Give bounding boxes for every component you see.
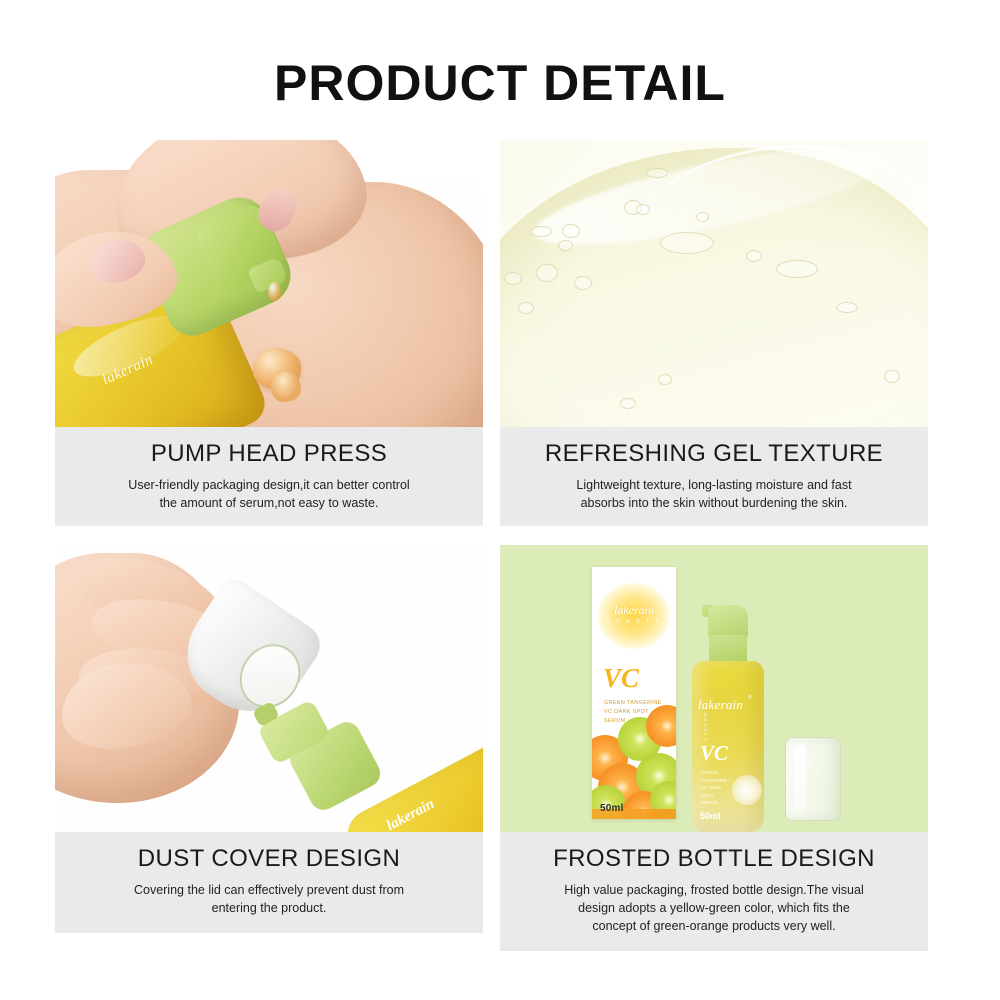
cap-highlight-icon — [794, 744, 806, 812]
gel-bubble-icon — [884, 370, 900, 383]
gel-bubble-icon — [836, 302, 858, 313]
photo-pump-head-press: lakerain — [55, 140, 483, 427]
serum-blob-secondary-icon — [271, 372, 301, 402]
gel-bubble-icon — [574, 276, 592, 290]
gel-bubble-icon — [660, 232, 714, 254]
box-vc-label: VC — [603, 663, 639, 694]
feature-panel-grid: lakerain PUMP HEAD PRESS User-friendly p… — [55, 140, 928, 945]
page-title: PRODUCT DETAIL — [0, 54, 1000, 112]
feature-panel-dust-cover-design: lakerain DUST COVER DESIGN Covering the … — [55, 545, 483, 933]
caption-frosted-bottle-design: FROSTED BOTTLE DESIGN High value packagi… — [500, 832, 928, 951]
frosted-dust-cover-icon — [785, 737, 841, 821]
box-volume-label: 50ml — [600, 803, 624, 814]
photo-frosted-bottle-design: lakerain B E A U T Y VC GREEN TANGERINE … — [500, 545, 928, 832]
photo-dust-cover-design: lakerain — [55, 545, 483, 832]
feature-panel-refreshing-gel-texture: REFRESHING GEL TEXTURE Lightweight textu… — [500, 140, 928, 526]
pump-head-icon — [708, 605, 748, 639]
caption-description: User-friendly packaging design,it can be… — [55, 476, 483, 512]
serum-drop-icon — [268, 282, 281, 301]
box-brand-label: lakerain — [592, 603, 676, 618]
bottle-brand-label: lakerain — [698, 697, 743, 713]
caption-refreshing-gel-texture: REFRESHING GEL TEXTURE Lightweight textu… — [500, 427, 928, 526]
gel-bubble-icon — [562, 224, 580, 238]
caption-description: High value packaging, frosted bottle des… — [500, 881, 928, 935]
gel-bubble-icon — [658, 374, 672, 385]
caption-title: REFRESHING GEL TEXTURE — [500, 439, 928, 469]
caption-description: Lightweight texture, long-lasting moistu… — [500, 476, 928, 512]
gel-bubble-icon — [746, 250, 762, 262]
caption-title: FROSTED BOTTLE DESIGN — [500, 844, 928, 874]
box-brand-sub-label: B E A U T Y — [592, 619, 676, 625]
gel-bubble-icon — [504, 272, 522, 285]
caption-pump-head-press: PUMP HEAD PRESS User-friendly packaging … — [55, 427, 483, 526]
gel-bubble-icon — [620, 398, 636, 409]
gel-bubble-icon — [530, 226, 552, 237]
gel-bubble-icon — [518, 302, 534, 314]
product-box-icon: lakerain B E A U T Y VC GREEN TANGERINE … — [592, 567, 676, 819]
bottle-brand-sub-label: B E A U T Y — [704, 712, 710, 742]
feature-panel-frosted-bottle-design: lakerain B E A U T Y VC GREEN TANGERINE … — [500, 545, 928, 951]
gel-bubble-icon — [776, 260, 818, 278]
lime-slice-icon — [732, 775, 762, 805]
bottle-product-name-label: GREEN TANGERINE VC DARK SPOT SERUM — [701, 769, 727, 807]
gel-bubble-icon — [696, 212, 709, 222]
caption-title: DUST COVER DESIGN — [55, 844, 483, 874]
registered-mark-icon: ® — [748, 695, 752, 701]
caption-dust-cover-design: DUST COVER DESIGN Covering the lid can e… — [55, 832, 483, 933]
caption-description: Covering the lid can effectively prevent… — [55, 881, 483, 917]
bottle-volume-label: 50ml — [700, 811, 721, 821]
bottle-vc-label: VC — [700, 741, 728, 766]
gel-bubble-icon — [558, 240, 573, 251]
photo-refreshing-gel-texture — [500, 140, 928, 427]
product-detail-page: PRODUCT DETAIL lakerain — [0, 0, 1000, 1000]
gel-bubble-icon — [536, 264, 558, 282]
gel-bubble-icon — [636, 204, 650, 215]
caption-title: PUMP HEAD PRESS — [55, 439, 483, 469]
feature-panel-pump-head-press: lakerain PUMP HEAD PRESS User-friendly p… — [55, 140, 483, 526]
gel-bubble-icon — [646, 168, 668, 178]
